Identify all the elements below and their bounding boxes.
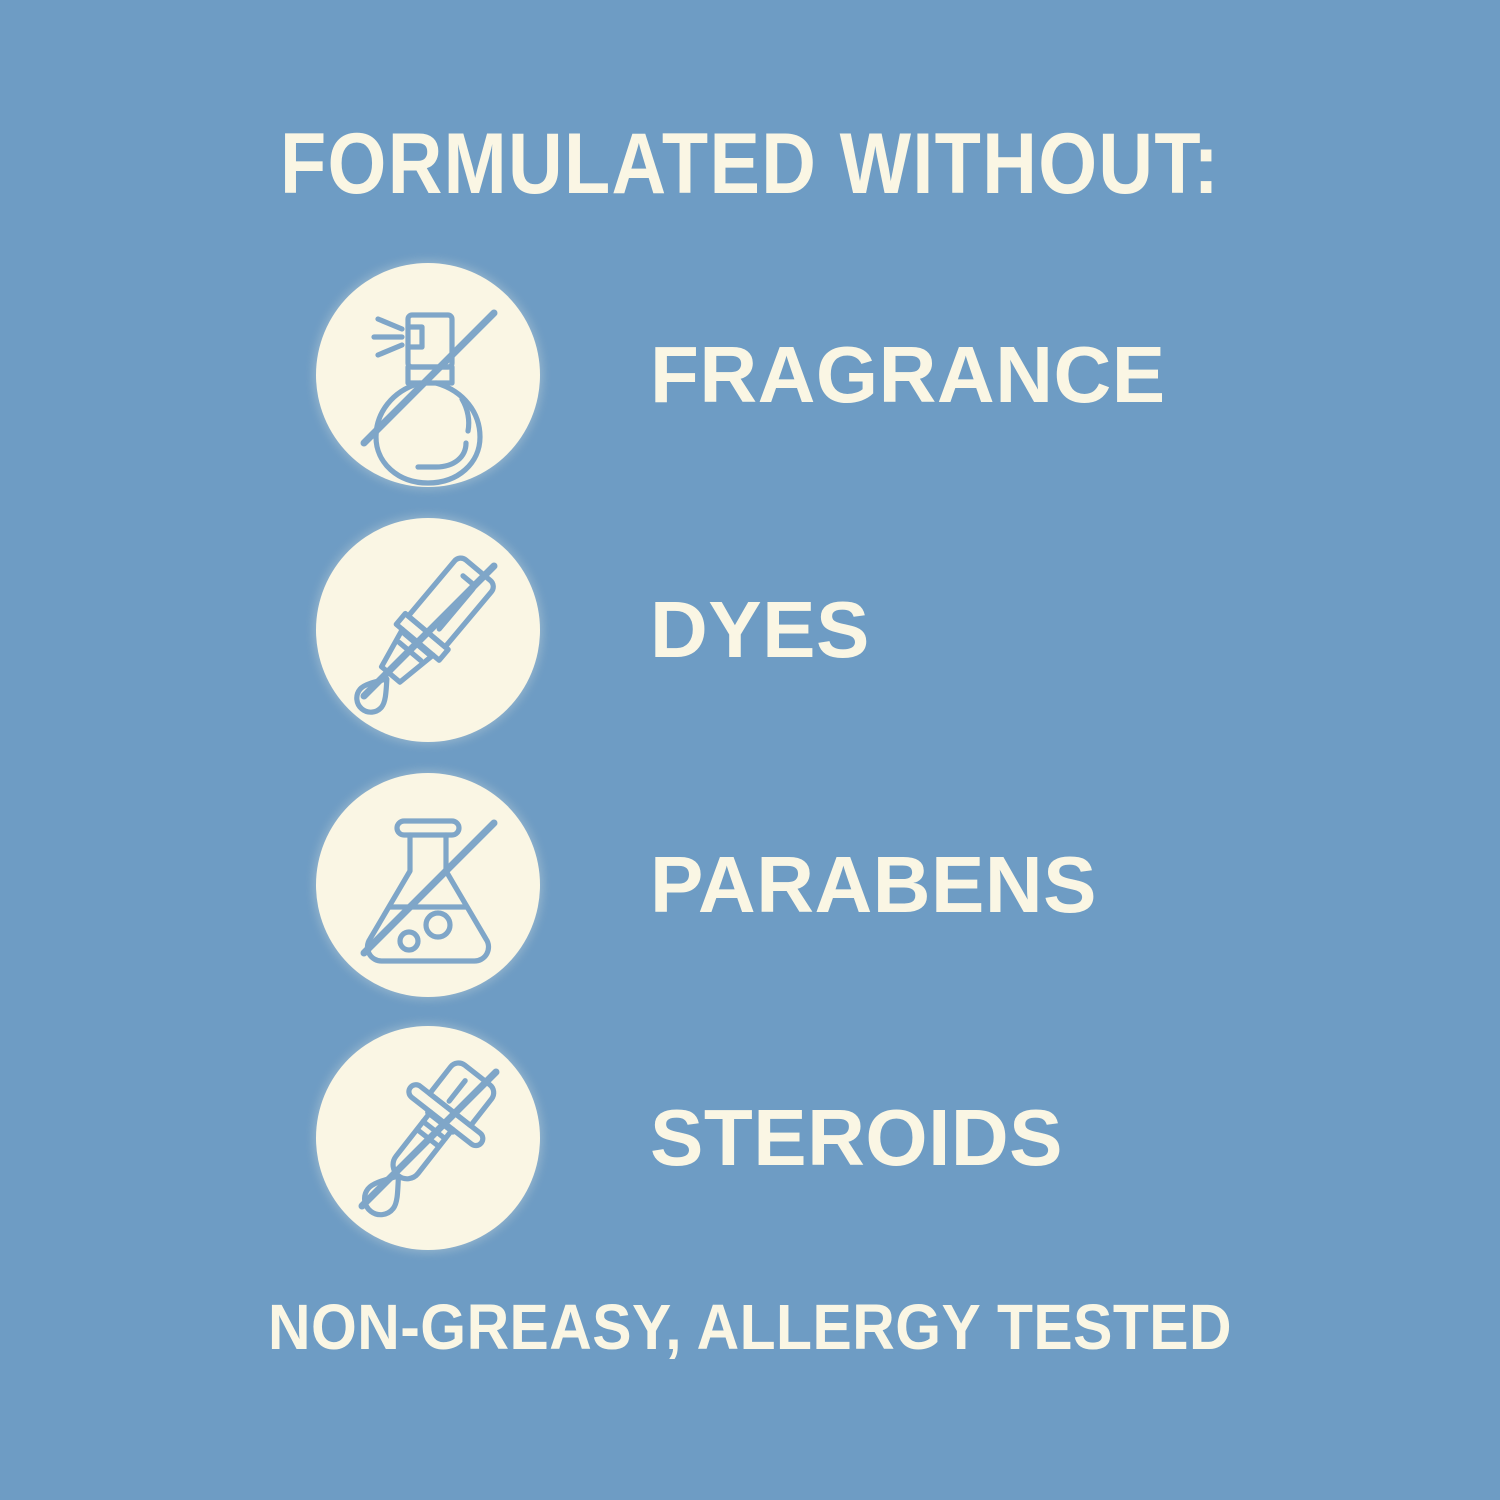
list-item-label: DYES — [650, 588, 870, 672]
list-item: STEROIDS — [316, 1026, 1316, 1250]
no-dropper-pipette-icon — [316, 1026, 540, 1250]
no-chemical-flask-icon — [316, 773, 540, 997]
list-item-label: FRAGRANCE — [650, 333, 1166, 417]
list-item: PARABENS — [316, 773, 1316, 997]
footer-tagline: NON-GREASY, ALLERGY TESTED — [60, 1288, 1440, 1366]
list-item: FRAGRANCE — [316, 263, 1316, 487]
list-item-label: STEROIDS — [650, 1096, 1063, 1180]
list-item: DYES — [316, 518, 1316, 742]
list-item-label: PARABENS — [650, 843, 1097, 927]
no-dye-tube-icon — [316, 518, 540, 742]
formulated-without-infographic: FORMULATED WITHOUT: — [0, 0, 1500, 1500]
claims-list: FRAGRANCE — [0, 0, 1500, 1500]
no-fragrance-bottle-icon — [316, 263, 540, 487]
